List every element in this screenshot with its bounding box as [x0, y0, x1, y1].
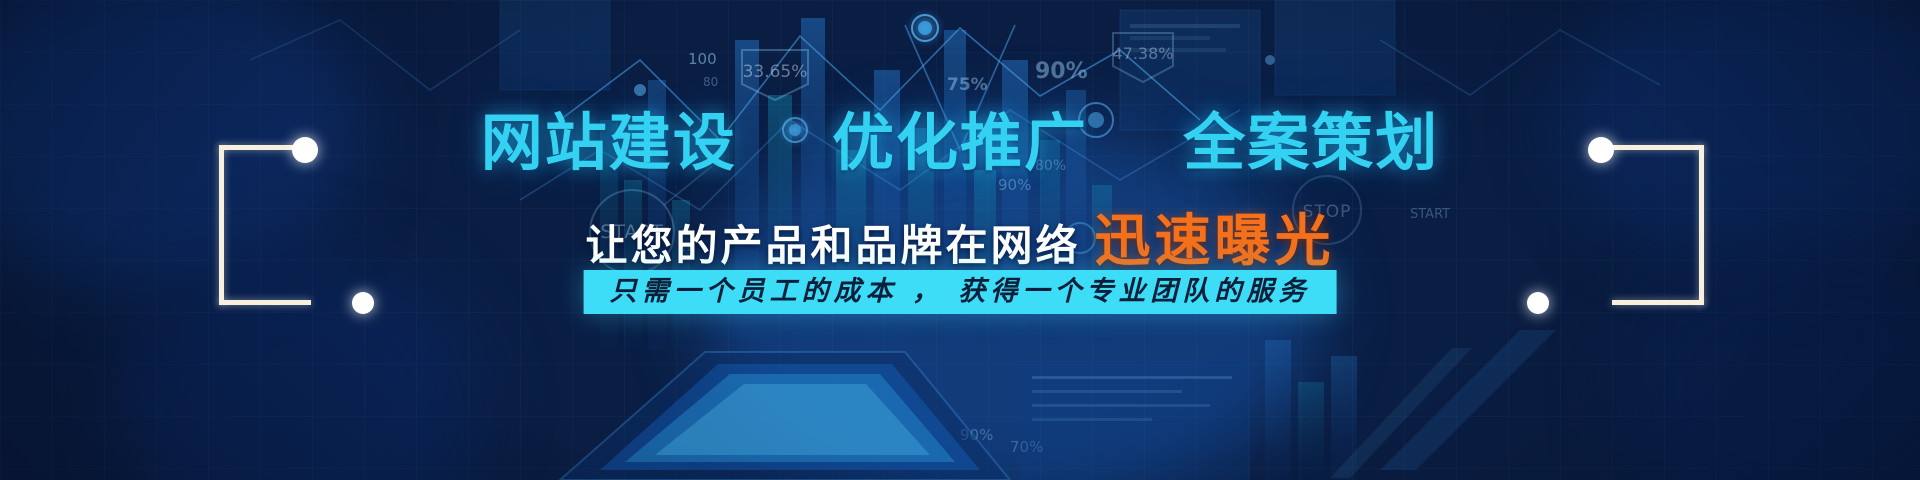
svg-text:90%: 90%	[1035, 59, 1088, 84]
promo-banner: START STOP 33.65% 47.38% 100 90% 90% 75%…	[0, 0, 1920, 480]
svg-text:80: 80	[703, 75, 718, 89]
svg-text:90%: 90%	[960, 426, 993, 444]
banner-caption-bar: 只需一个员工的成本 ， 获得一个专业团队的服务	[584, 270, 1337, 314]
left-bracket-bottom-line	[219, 300, 311, 305]
svg-text:47.38%: 47.38%	[1112, 44, 1173, 63]
svg-text:100: 100	[688, 50, 717, 68]
right-bracket-dot-lower	[1527, 292, 1549, 314]
subtitle-plain-text: 让您的产品和品牌在网络	[585, 221, 1080, 270]
headline-segment-2: 优化推广	[832, 92, 1088, 182]
banner-headline: 网站建设 优化推广 全案策划	[0, 92, 1920, 182]
left-bracket-dot	[292, 137, 318, 163]
right-bracket-dot	[1588, 137, 1614, 163]
right-bracket-bottom-line	[1612, 300, 1704, 305]
subtitle-highlight-text: 迅速曝光	[1095, 209, 1335, 274]
svg-text:70%: 70%	[1010, 438, 1043, 456]
headline-segment-3: 全案策划	[1183, 92, 1439, 182]
banner-subtitle: 让您的产品和品牌在网络迅速曝光	[0, 196, 1920, 277]
caption-text: 只需一个员工的成本 ， 获得一个专业团队的服务	[610, 276, 1311, 307]
headline-segment-1: 网站建设	[481, 92, 737, 182]
svg-text:33.65%: 33.65%	[743, 62, 808, 82]
left-bracket-dot-lower	[352, 292, 374, 314]
